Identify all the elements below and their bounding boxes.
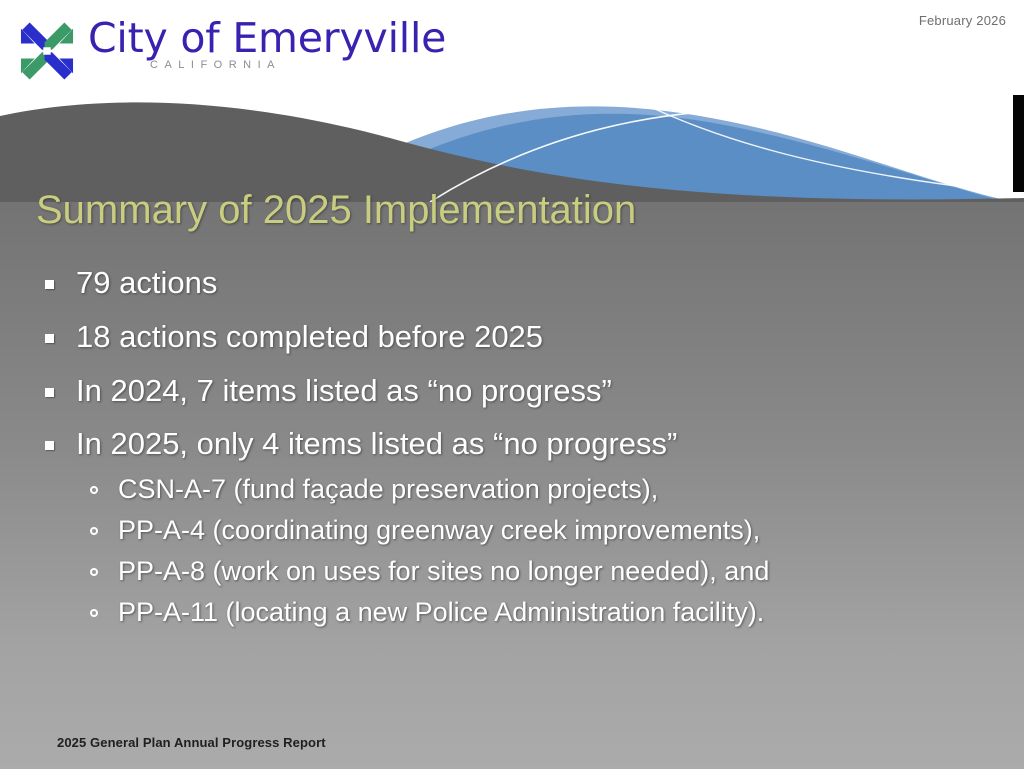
- sub-bullet-list: CSN-A-7 (fund façade preservation projec…: [76, 470, 986, 632]
- sub-bullet-text: PP-A-8 (work on uses for sites no longer…: [118, 556, 769, 586]
- square-bullet-icon: [45, 280, 54, 289]
- square-bullet-icon: [45, 388, 54, 397]
- bullet-text: In 2024, 7 items listed as “no progress”: [76, 373, 612, 408]
- circle-bullet-icon: [90, 486, 98, 494]
- sub-bullet-text: PP-A-4 (coordinating greenway creek impr…: [118, 515, 760, 545]
- sub-bullet-item: PP-A-11 (locating a new Police Administr…: [76, 593, 986, 632]
- sub-bullet-item: CSN-A-7 (fund façade preservation projec…: [76, 470, 986, 509]
- bullet-list: 79 actions 18 actions completed before 2…: [36, 262, 986, 643]
- bullet-text: In 2025, only 4 items listed as “no prog…: [76, 426, 677, 461]
- slide-footer-note: 2025 General Plan Annual Progress Report: [57, 735, 326, 750]
- bullet-item: In 2025, only 4 items listed as “no prog…: [36, 423, 986, 631]
- bullet-item: 79 actions: [36, 262, 986, 305]
- sub-bullet-item: PP-A-4 (coordinating greenway creek impr…: [76, 511, 986, 550]
- bullet-text: 18 actions completed before 2025: [76, 319, 543, 354]
- square-bullet-icon: [45, 441, 54, 450]
- sub-bullet-text: CSN-A-7 (fund façade preservation projec…: [118, 474, 658, 504]
- circle-bullet-icon: [90, 568, 98, 576]
- sub-bullet-text: PP-A-11 (locating a new Police Administr…: [118, 597, 764, 627]
- date-stamp: February 2026: [919, 13, 1006, 28]
- circle-bullet-icon: [90, 609, 98, 617]
- sub-bullet-item: PP-A-8 (work on uses for sites no longer…: [76, 552, 986, 591]
- bullet-item: 18 actions completed before 2025: [36, 316, 986, 359]
- bullet-text: 79 actions: [76, 265, 217, 300]
- slide-content: Summary of 2025 Implementation 79 action…: [0, 0, 1024, 769]
- right-edge-black-bar: [1013, 95, 1024, 192]
- circle-bullet-icon: [90, 527, 98, 535]
- presentation-slide: City of Emeryville CALIFORNIA February 2…: [0, 0, 1024, 769]
- slide-title: Summary of 2025 Implementation: [36, 188, 636, 233]
- bullet-item: In 2024, 7 items listed as “no progress”: [36, 370, 986, 413]
- square-bullet-icon: [45, 334, 54, 343]
